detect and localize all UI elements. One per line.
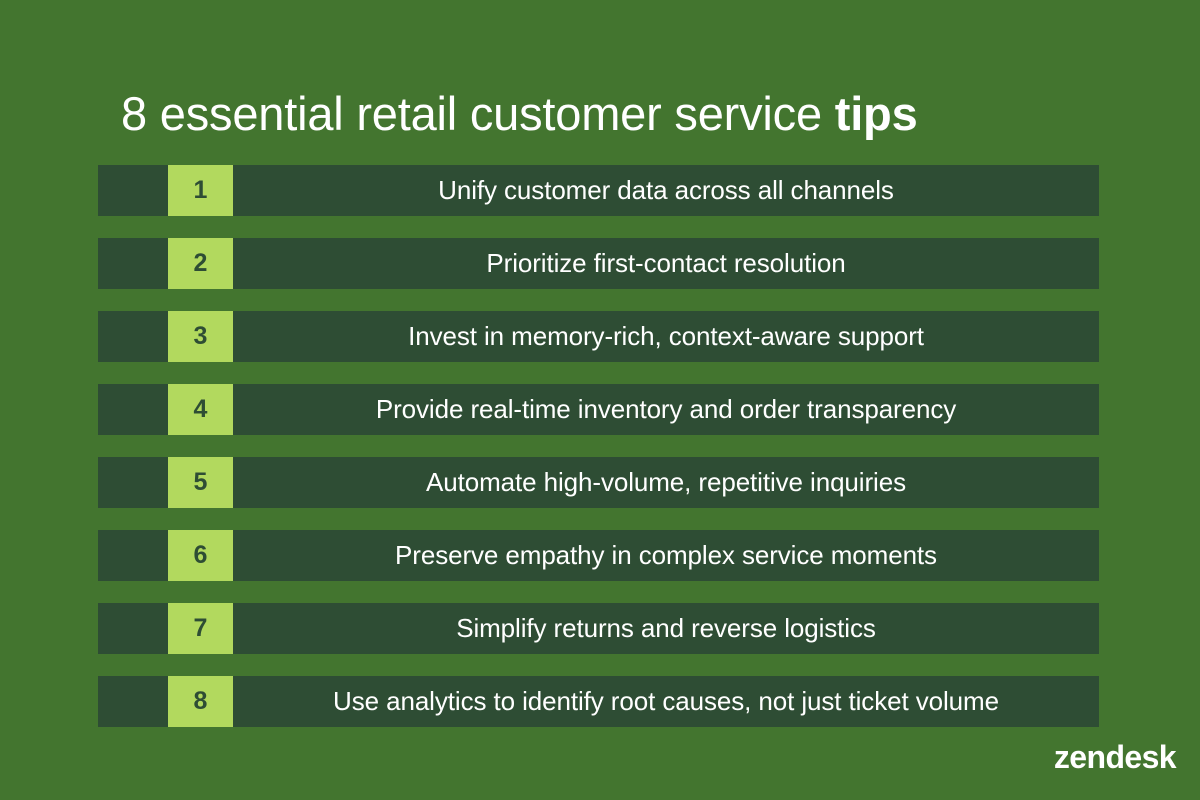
row-left-spacer	[98, 238, 168, 289]
tips-list: 1 Unify customer data across all channel…	[98, 165, 1099, 727]
list-item: 3 Invest in memory-rich, context-aware s…	[98, 311, 1099, 362]
tip-label: Unify customer data across all channels	[233, 165, 1099, 216]
tip-number-badge: 5	[168, 457, 233, 508]
tip-label: Use analytics to identify root causes, n…	[233, 676, 1099, 727]
list-item: 4 Provide real-time inventory and order …	[98, 384, 1099, 435]
row-left-spacer	[98, 603, 168, 654]
list-item: 2 Prioritize first-contact resolution	[98, 238, 1099, 289]
row-left-spacer	[98, 676, 168, 727]
page-title: 8 essential retail customer service tips	[121, 83, 1101, 145]
row-left-spacer	[98, 457, 168, 508]
zendesk-logo: zendesk	[1054, 741, 1176, 773]
list-item: 5 Automate high-volume, repetitive inqui…	[98, 457, 1099, 508]
row-left-spacer	[98, 384, 168, 435]
list-item: 6 Preserve empathy in complex service mo…	[98, 530, 1099, 581]
page-title-emphasis: tips	[835, 87, 918, 140]
tip-number-badge: 2	[168, 238, 233, 289]
tip-label: Simplify returns and reverse logistics	[233, 603, 1099, 654]
page-title-regular: 8 essential retail customer service	[121, 87, 835, 140]
tip-label: Prioritize first-contact resolution	[233, 238, 1099, 289]
list-item: 8 Use analytics to identify root causes,…	[98, 676, 1099, 727]
row-left-spacer	[98, 530, 168, 581]
tip-label: Automate high-volume, repetitive inquiri…	[233, 457, 1099, 508]
tip-number-badge: 8	[168, 676, 233, 727]
tip-label: Invest in memory-rich, context-aware sup…	[233, 311, 1099, 362]
row-left-spacer	[98, 311, 168, 362]
list-item: 1 Unify customer data across all channel…	[98, 165, 1099, 216]
tip-number-badge: 7	[168, 603, 233, 654]
tip-number-badge: 6	[168, 530, 233, 581]
tip-number-badge: 1	[168, 165, 233, 216]
tip-number-badge: 4	[168, 384, 233, 435]
tip-number-badge: 3	[168, 311, 233, 362]
row-left-spacer	[98, 165, 168, 216]
list-item: 7 Simplify returns and reverse logistics	[98, 603, 1099, 654]
tip-label: Provide real-time inventory and order tr…	[233, 384, 1099, 435]
tip-label: Preserve empathy in complex service mome…	[233, 530, 1099, 581]
